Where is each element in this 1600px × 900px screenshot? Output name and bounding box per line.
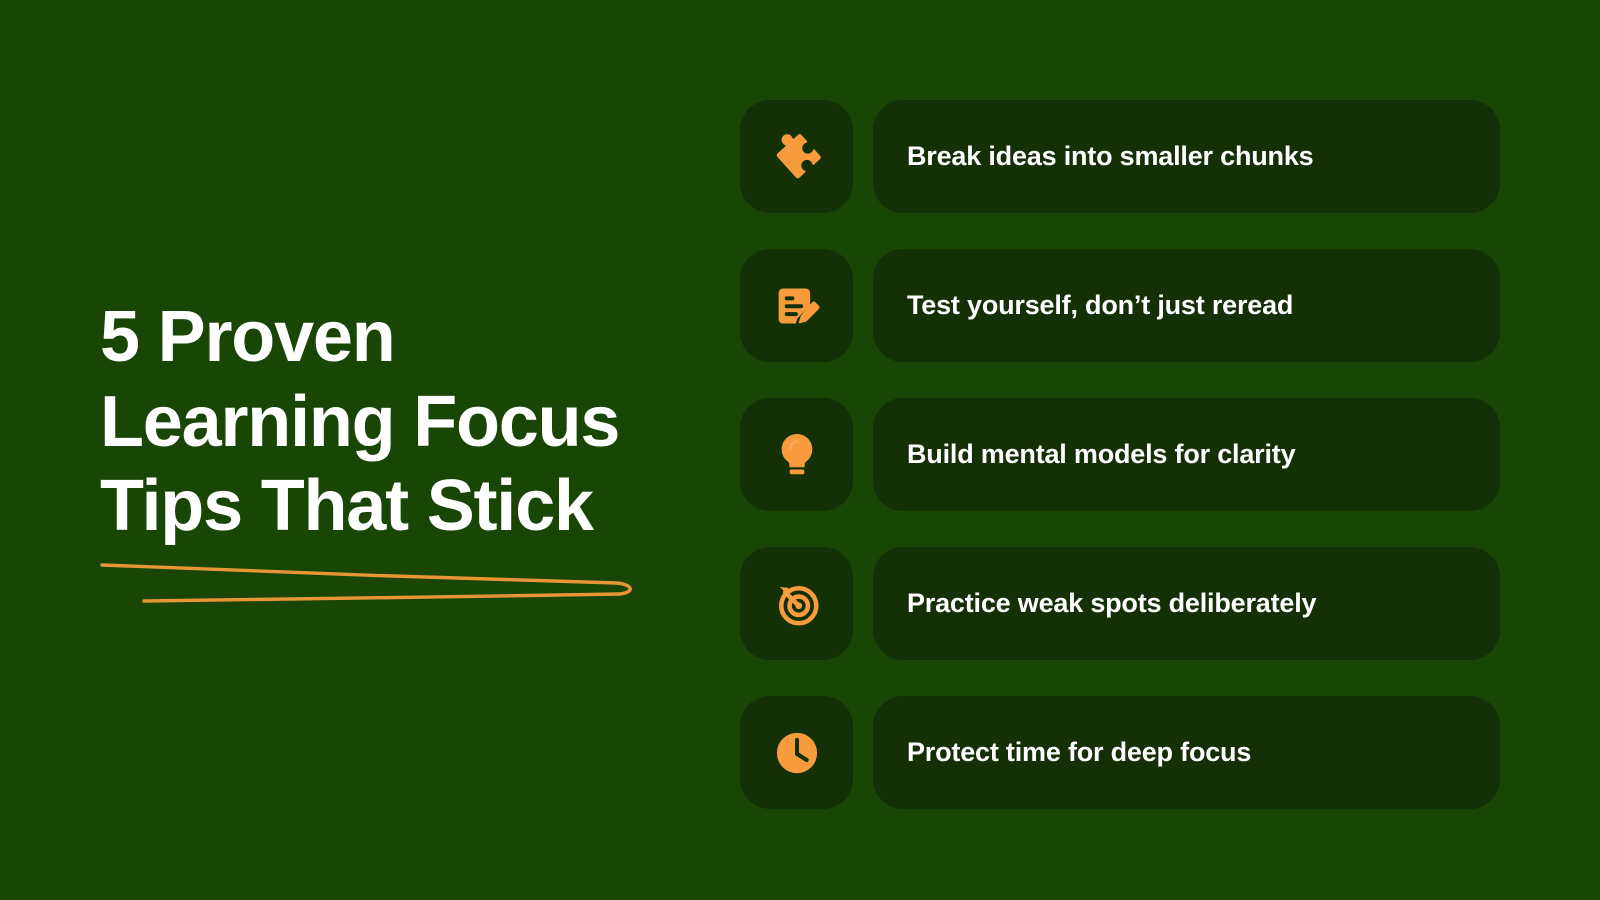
list-item[interactable]: Break ideas into smaller chunks [740,100,1500,213]
note-pencil-icon [740,249,853,362]
clock-icon [740,696,853,809]
list-item[interactable]: Test yourself, don’t just reread [740,249,1500,362]
tip-label: Test yourself, don’t just reread [907,289,1293,321]
list-item[interactable]: Build mental models for clarity [740,398,1500,511]
tip-label: Break ideas into smaller chunks [907,140,1313,172]
tip-card[interactable]: Build mental models for clarity [873,398,1500,511]
tip-card[interactable]: Test yourself, don’t just reread [873,249,1500,362]
slide-root: 5 Proven Learning Focus Tips That Stick … [0,0,1600,900]
tip-card[interactable]: Protect time for deep focus [873,696,1500,809]
puzzle-piece-icon [740,100,853,213]
tip-label: Practice weak spots deliberately [907,587,1316,619]
tip-card[interactable]: Practice weak spots deliberately [873,547,1500,660]
tip-card[interactable]: Break ideas into smaller chunks [873,100,1500,213]
tip-label: Build mental models for clarity [907,438,1295,470]
tips-list: Break ideas into smaller chunks Test you… [740,100,1500,809]
list-item[interactable]: Protect time for deep focus [740,696,1500,809]
target-dart-icon [740,547,853,660]
page-title: 5 Proven Learning Focus Tips That Stick [100,295,660,550]
tip-label: Protect time for deep focus [907,736,1251,768]
headline-pane: 5 Proven Learning Focus Tips That Stick [0,0,700,900]
lightbulb-icon [740,398,853,511]
list-item[interactable]: Practice weak spots deliberately [740,547,1500,660]
hand-drawn-underline-icon [100,559,640,605]
